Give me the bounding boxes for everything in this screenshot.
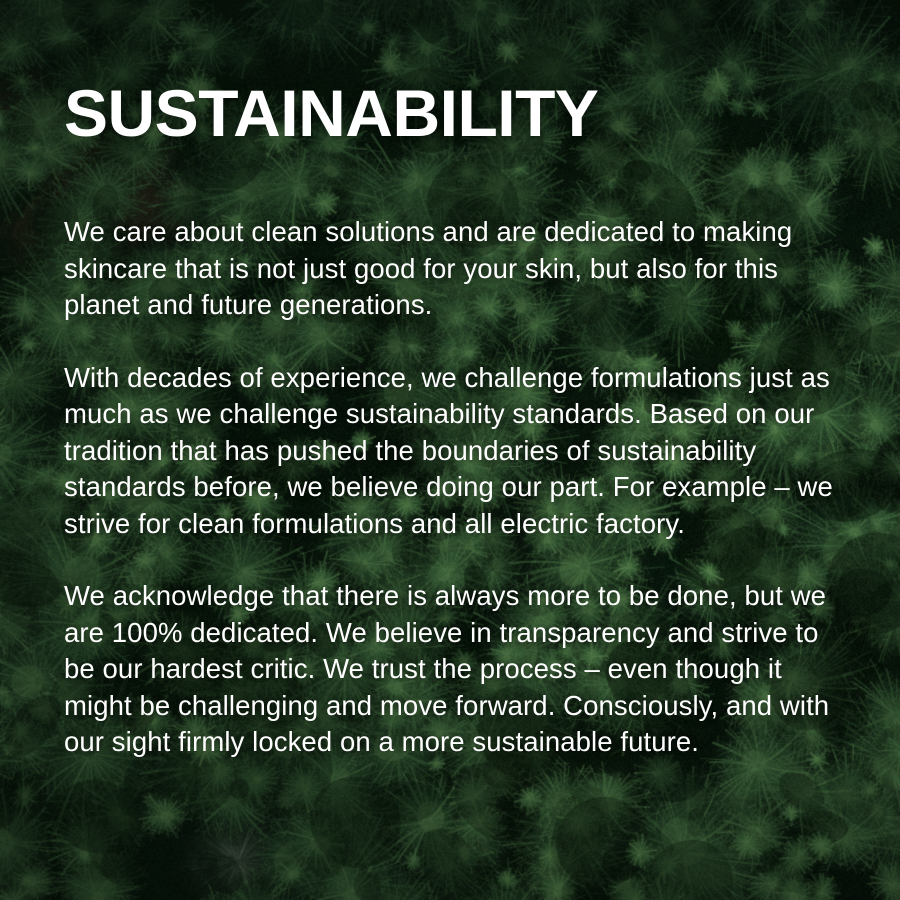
sustainability-page: SUSTAINABILITY We care about clean solut… [0,0,900,900]
page-title: SUSTAINABILITY [64,78,598,148]
paragraph-experience: With decades of experience, we challenge… [64,360,854,543]
body-copy-block: We care about clean solutions and are de… [64,214,854,761]
paragraph-acknowledgement: We acknowledge that there is always more… [64,578,854,761]
paragraph-intro: We care about clean solutions and are de… [64,214,854,324]
content-container: SUSTAINABILITY We care about clean solut… [64,0,854,900]
